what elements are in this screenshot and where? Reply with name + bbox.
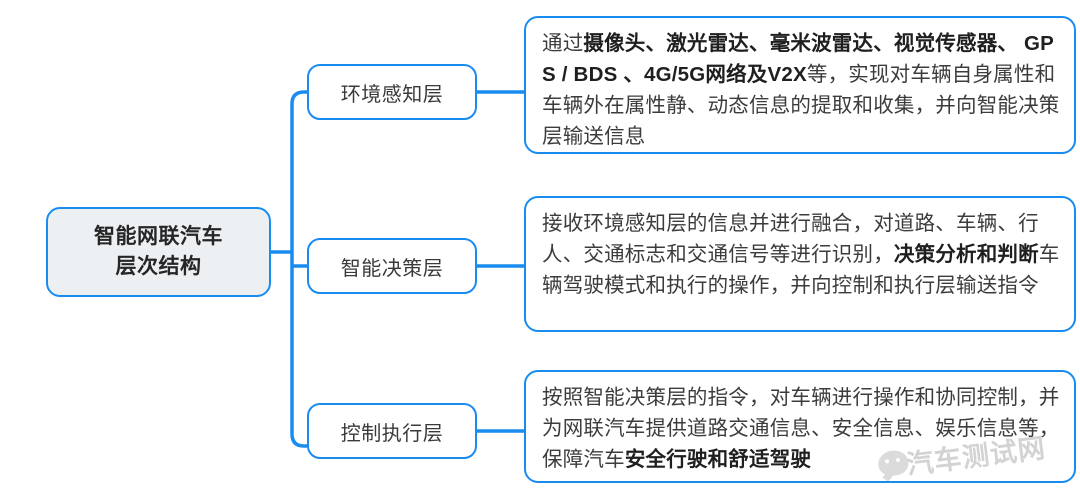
branch-node-label: 环境感知层 <box>341 78 444 107</box>
detail-card-text: 按照智能决策层的指令，对车辆进行操作和协同控制，并为网联汽车提供道路交通信息、安… <box>542 382 1060 475</box>
branch-node-label: 控制执行层 <box>341 417 444 446</box>
branch-node-control[interactable]: 控制执行层 <box>307 403 477 459</box>
connector-trunk-to-branch-2 <box>292 434 307 446</box>
detail-card-text: 接收环境感知层的信息并进行融合，对道路、车辆、行人、交通标志和交通信号等进行识别… <box>542 208 1060 301</box>
detail-card-perception[interactable]: 通过摄像头、激光雷达、毫米波雷达、视觉传感器、 GPS / BDS 、4G/5G… <box>524 16 1076 154</box>
root-label-line-2: 层次结构 <box>116 255 202 278</box>
connector-trunk-to-branch-0 <box>292 92 307 104</box>
branch-node-decision[interactable]: 智能决策层 <box>307 238 477 294</box>
root-node-label: 智能网联汽车 层次结构 <box>94 222 223 283</box>
root-node[interactable]: 智能网联汽车 层次结构 <box>46 207 271 297</box>
branch-node-perception[interactable]: 环境感知层 <box>307 64 477 120</box>
branch-node-label: 智能决策层 <box>341 252 444 281</box>
detail-card-text: 通过摄像头、激光雷达、毫米波雷达、视觉传感器、 GPS / BDS 、4G/5G… <box>542 28 1060 153</box>
mindmap-canvas: 智能网联汽车 层次结构 环境感知层 智能决策层 控制执行层 通过摄像头、激光雷达… <box>0 0 1080 501</box>
detail-card-control[interactable]: 按照智能决策层的指令，对车辆进行操作和协同控制，并为网联汽车提供道路交通信息、安… <box>524 370 1076 483</box>
root-label-line-1: 智能网联汽车 <box>94 225 223 248</box>
detail-card-decision[interactable]: 接收环境感知层的信息并进行融合，对道路、车辆、行人、交通标志和交通信号等进行识别… <box>524 196 1076 332</box>
